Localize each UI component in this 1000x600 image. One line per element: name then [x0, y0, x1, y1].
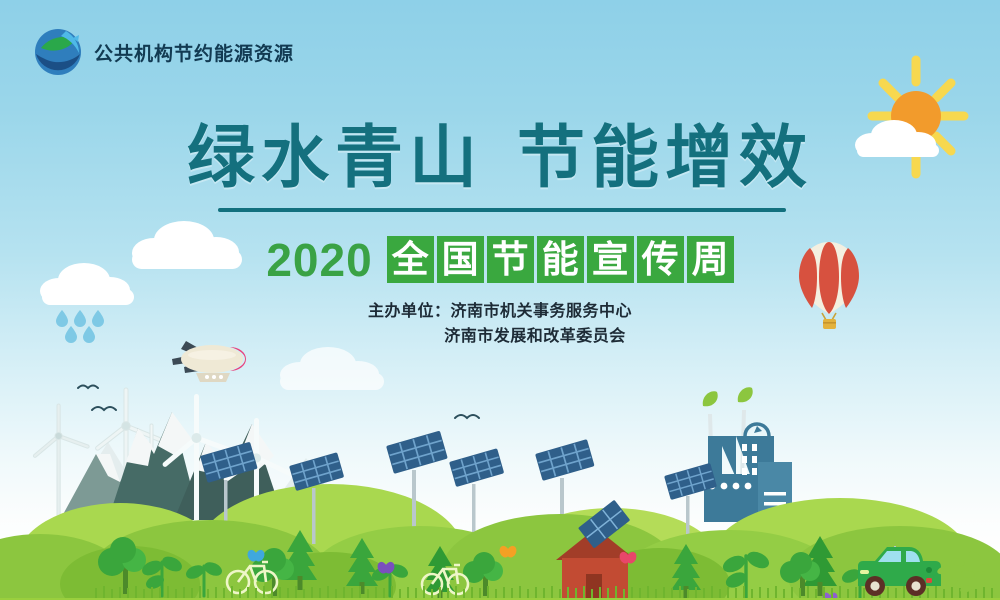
subtitle-box-char-1: 国 [437, 236, 484, 283]
subtitle-row: 2020 全国节能宣传周 [0, 236, 1000, 283]
title-underline-divider [218, 208, 786, 212]
leaf-emission-icon [703, 391, 718, 406]
subtitle-box-char-3: 能 [537, 236, 584, 283]
organizer-line-2: 济南市发展和改革委员会 [0, 325, 1000, 350]
poster-canvas: 公共机构节约能源资源 绿水青山节能增效 2020 全国节能宣传周 主办单位：济南… [0, 0, 1000, 600]
subtitle-box-char-4: 宣 [587, 236, 634, 283]
leaf-emission-icon [738, 387, 753, 402]
subtitle-year: 2020 [266, 237, 372, 283]
page-title: 绿水青山节能增效 [0, 124, 1000, 192]
factory-icon [703, 387, 792, 522]
landscape-illustration [0, 370, 1000, 600]
organizer-line-1: 主办单位：济南市机关事务服务中心 [368, 303, 632, 320]
birds-icon [78, 386, 479, 419]
subtitle-boxed-text: 全国节能宣传周 [387, 236, 734, 283]
subtitle-box-char-6: 周 [687, 236, 734, 283]
eco-globe-logo-icon [32, 26, 84, 78]
headline-part-1: 绿水青山 [187, 120, 483, 196]
subtitle-box-char-2: 节 [487, 236, 534, 283]
logo-block: 公共机构节约能源资源 [32, 26, 294, 78]
subtitle-box-char-0: 全 [387, 236, 434, 283]
logo-text: 公共机构节约能源资源 [94, 39, 294, 66]
organizer-info: 主办单位：济南市机关事务服务中心 济南市发展和改革委员会 [0, 300, 1000, 350]
headline-part-2: 节能增效 [517, 120, 813, 196]
subtitle-box-char-5: 传 [637, 236, 684, 283]
